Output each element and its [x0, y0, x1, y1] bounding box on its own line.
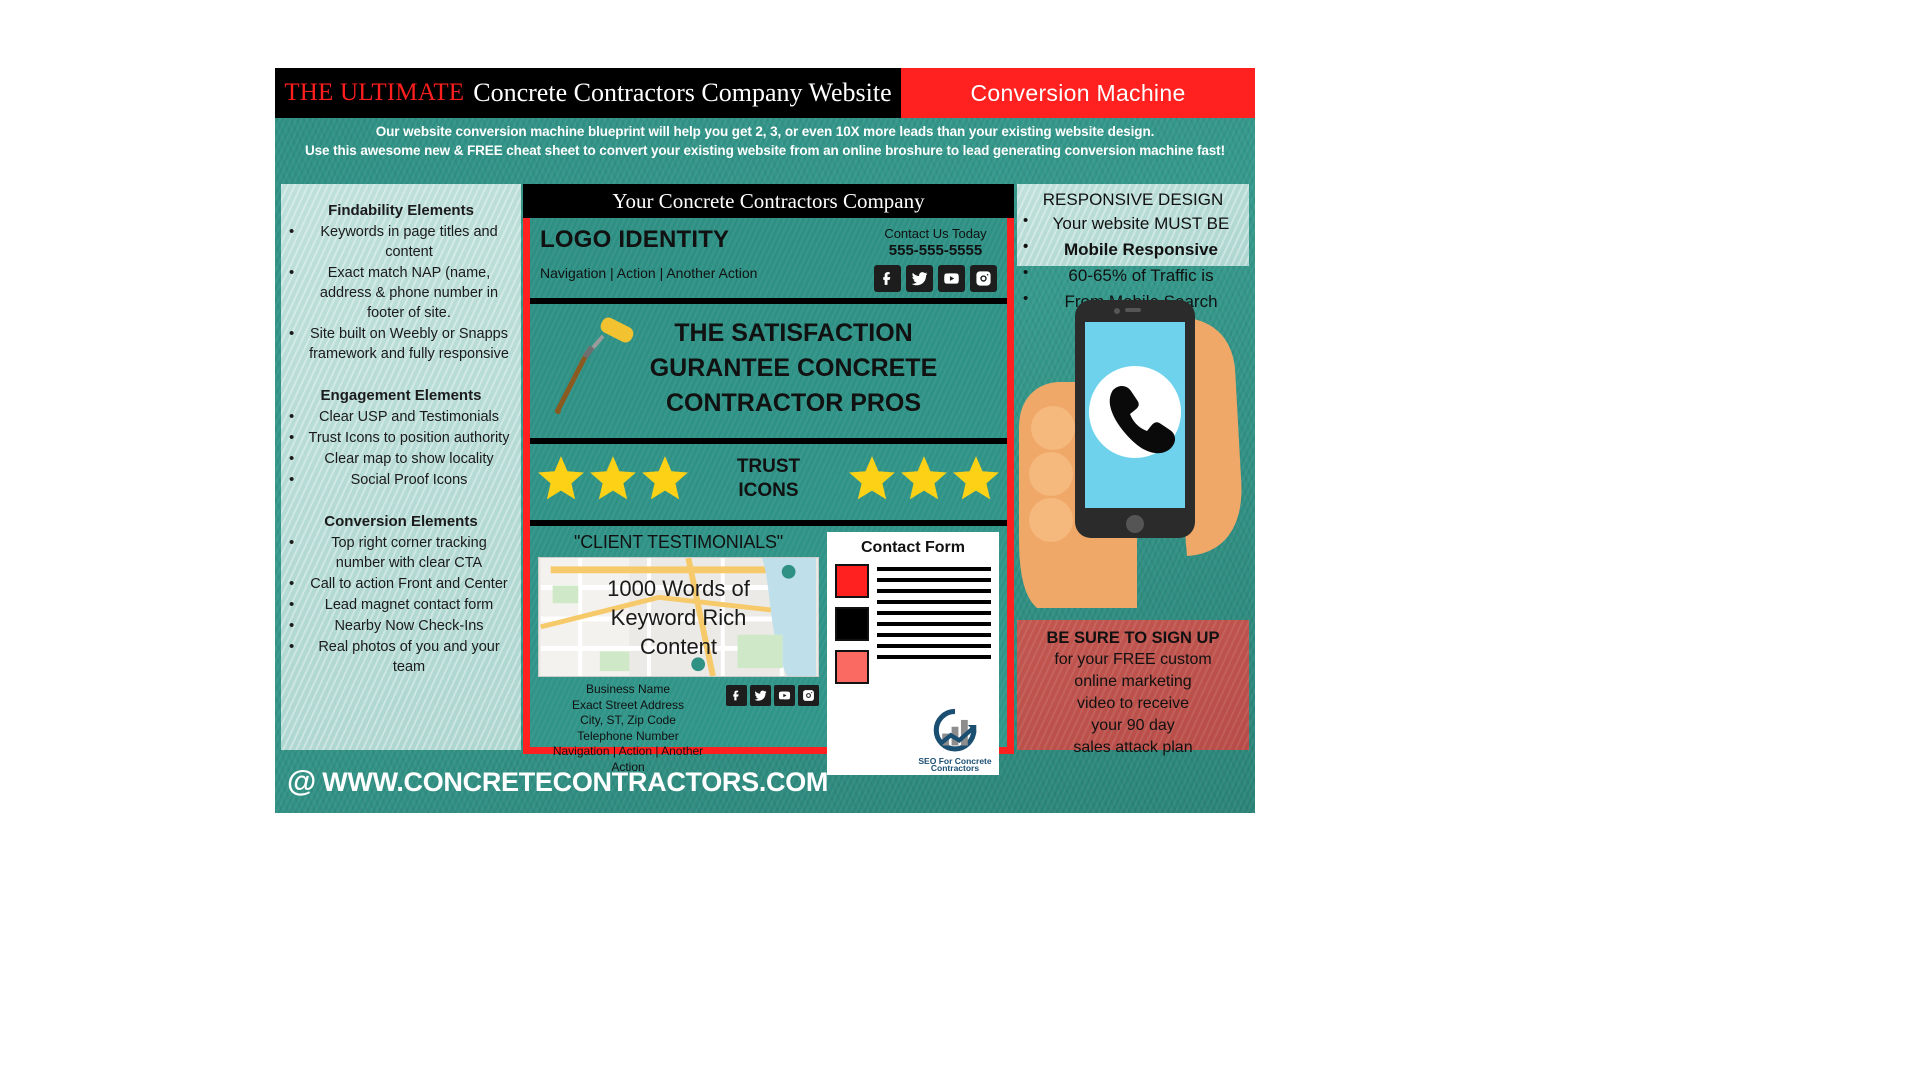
client-testimonials-label: "CLIENT TESTIMONIALS": [538, 532, 819, 553]
bullet-icon: •: [289, 407, 299, 427]
twitter-icon[interactable]: [750, 685, 771, 706]
list-item: •Trust Icons to position authority: [289, 428, 513, 448]
nap-telephone: Telephone Number: [538, 729, 718, 745]
section-title-findability: Findability Elements: [289, 202, 513, 219]
form-line[interactable]: [877, 611, 991, 615]
trust-label-line-2: ICONS: [737, 479, 800, 503]
nap-city-state-zip: City, ST, Zip Code: [538, 713, 718, 729]
star-icon: [847, 454, 897, 504]
hero-line-2: GURANTEE CONCRETE: [590, 351, 997, 386]
star-icon: [899, 454, 949, 504]
signup-heading: BE SURE TO SIGN UP: [1023, 627, 1243, 649]
bullet-icon: •: [289, 449, 299, 469]
form-input-lines: [877, 564, 991, 684]
responsive-design-title: RESPONSIVE DESIGN: [1023, 190, 1243, 210]
form-line[interactable]: [877, 600, 991, 604]
contact-form-title: Contact Form: [835, 539, 991, 557]
subheadline: Our website conversion machine blueprint…: [275, 122, 1255, 160]
form-swatch-red: [835, 564, 869, 598]
signup-line-2: online marketing: [1023, 671, 1243, 693]
stars-right: [847, 454, 1001, 504]
stars-left: [536, 454, 690, 504]
paint-roller-icon: [548, 314, 648, 424]
spacer: [289, 365, 513, 381]
youtube-icon[interactable]: [774, 685, 795, 706]
list-item: •Lead magnet contact form: [289, 595, 513, 615]
bullet-icon: •: [289, 470, 299, 490]
title-bar-left: THE ULTIMATE Concrete Contractors Compan…: [275, 68, 901, 118]
facebook-icon[interactable]: [726, 685, 747, 706]
mockup-contact-block: Contact Us Today 555-555-5555: [874, 226, 997, 292]
form-line[interactable]: [877, 578, 991, 582]
seo-chart-icon: [922, 708, 988, 754]
trust-label-line-1: TRUST: [737, 455, 800, 479]
list-item: •Real photos of you and your team: [289, 637, 513, 677]
list-item: •Clear map to show locality: [289, 449, 513, 469]
list-item: •Keywords in page titles and content: [289, 222, 513, 262]
list-item: •Nearby Now Check-Ins: [289, 616, 513, 636]
spacer: [289, 491, 513, 507]
title-bar-badge: Conversion Machine: [901, 68, 1255, 118]
bullet-icon: •: [289, 222, 299, 242]
mockup-nav[interactable]: Navigation | Action | Another Action: [540, 265, 757, 281]
responsive-design-box: RESPONSIVE DESIGN •Your website MUST BE …: [1017, 184, 1249, 266]
signup-callout-box: BE SURE TO SIGN UP for your FREE custom …: [1017, 620, 1249, 750]
hero-section: THE SATISFACTION GURANTEE CONCRETE CONTR…: [530, 304, 1007, 432]
section-title-engagement: Engagement Elements: [289, 387, 513, 404]
bullet-icon: •: [289, 616, 299, 636]
title-bar: THE ULTIMATE Concrete Contractors Compan…: [275, 68, 1255, 118]
form-line[interactable]: [877, 567, 991, 571]
contact-form-rows: [835, 564, 991, 684]
list-item: •Clear USP and Testimonials: [289, 407, 513, 427]
mockup-lower-section: "CLIENT TESTIMONIALS": [530, 526, 1007, 775]
lead-magnet-contact-form[interactable]: Contact Form: [827, 532, 999, 775]
list-item: •Call to action Front and Center: [289, 574, 513, 594]
bullet-icon: •: [289, 595, 299, 615]
star-icon: [536, 454, 586, 504]
testimonials-and-map: "CLIENT TESTIMONIALS": [538, 532, 819, 775]
bullet-icon: •: [289, 263, 299, 283]
list-item: •Mobile Responsive: [1023, 237, 1243, 262]
form-swatch-black: [835, 607, 869, 641]
hand-holding-phone-illustration: [1017, 278, 1249, 608]
page-title: Concrete Contractors Company Website: [473, 78, 891, 108]
at-symbol-icon: @: [287, 765, 316, 799]
website-url[interactable]: WWW.CONCRETECONTRACTORS.COM: [322, 767, 828, 798]
instagram-icon[interactable]: [970, 265, 997, 292]
form-swatch-pink: [835, 650, 869, 684]
form-line[interactable]: [877, 655, 991, 659]
map-overlay-text: 1000 Words of Keyword Rich Content: [539, 558, 818, 676]
form-line[interactable]: [877, 622, 991, 626]
twitter-icon[interactable]: [906, 265, 933, 292]
signup-line-3: video to receive: [1023, 693, 1243, 715]
logo-identity-label: LOGO IDENTITY: [540, 226, 757, 254]
form-line[interactable]: [877, 644, 991, 648]
bullet-icon: •: [1023, 211, 1033, 231]
star-icon: [951, 454, 1001, 504]
conversion-machine-label: Conversion Machine: [970, 80, 1185, 107]
section-title-conversion: Conversion Elements: [289, 513, 513, 530]
list-item: •Your website MUST BE: [1023, 211, 1243, 236]
trust-icons-section: TRUST ICONS: [530, 444, 1007, 514]
social-icons-header: [874, 265, 997, 292]
locality-map[interactable]: 1000 Words of Keyword Rich Content: [538, 557, 819, 677]
star-icon: [588, 454, 638, 504]
contact-us-label: Contact Us Today: [874, 226, 997, 241]
bullet-icon: •: [1023, 237, 1033, 257]
infographic-canvas: THE ULTIMATE Concrete Contractors Compan…: [0, 0, 1920, 1080]
tracking-phone-number[interactable]: 555-555-5555: [874, 242, 997, 259]
hand-phone-graphic: [1017, 278, 1249, 608]
findability-column: Findability Elements •Keywords in page t…: [281, 184, 521, 750]
mockup-branding: LOGO IDENTITY Navigation | Action | Anot…: [540, 226, 757, 292]
list-item: •Exact match NAP (name, address & phone …: [289, 263, 513, 323]
infographic-frame: THE ULTIMATE Concrete Contractors Compan…: [275, 68, 1255, 813]
form-line[interactable]: [877, 589, 991, 593]
subheadline-line-1: Our website conversion machine blueprint…: [275, 122, 1255, 141]
nap-business-name: Business Name: [538, 682, 718, 698]
bullet-icon: •: [289, 428, 299, 448]
hero-line-3: CONTRACTOR PROS: [590, 386, 997, 421]
bullet-icon: •: [289, 324, 299, 344]
social-icons-footer: [726, 685, 819, 706]
form-line[interactable]: [877, 633, 991, 637]
youtube-icon[interactable]: [938, 265, 965, 292]
mockup-site-title: Your Concrete Contractors Company: [612, 189, 924, 214]
instagram-icon[interactable]: [798, 685, 819, 706]
bullet-icon: •: [289, 533, 299, 553]
map-text-line-2: Keyword Rich: [607, 603, 750, 632]
facebook-icon[interactable]: [874, 265, 901, 292]
trust-icons-label: TRUST ICONS: [737, 455, 800, 503]
star-icon: [640, 454, 690, 504]
mockup-body: LOGO IDENTITY Navigation | Action | Anot…: [523, 218, 1014, 754]
list-item: •Top right corner tracking number with c…: [289, 533, 513, 573]
bullet-icon: •: [289, 637, 299, 657]
mockup-header-row: LOGO IDENTITY Navigation | Action | Anot…: [530, 218, 1007, 292]
subheadline-line-2: Use this awesome new & FREE cheat sheet …: [275, 141, 1255, 160]
website-mockup: Your Concrete Contractors Company LOGO I…: [523, 184, 1014, 754]
signup-line-1: for your FREE custom: [1023, 649, 1243, 671]
list-item: •Social Proof Icons: [289, 470, 513, 490]
footer-url-bar: @ WWW.CONCRETECONTRACTORS.COM: [275, 751, 1255, 813]
map-text-line-1: 1000 Words of: [607, 574, 750, 603]
mockup-site-title-bar: Your Concrete Contractors Company: [523, 184, 1014, 218]
form-swatches: [835, 564, 869, 684]
title-ultimate: THE ULTIMATE: [284, 79, 464, 107]
map-text-line-3: Content: [607, 632, 750, 661]
signup-line-4: your 90 day: [1023, 715, 1243, 737]
bullet-icon: •: [289, 574, 299, 594]
list-item: •Site built on Weebly or Snapps framewor…: [289, 324, 513, 364]
hero-line-1: THE SATISFACTION: [590, 316, 997, 351]
nap-street-address: Exact Street Address: [538, 698, 718, 714]
